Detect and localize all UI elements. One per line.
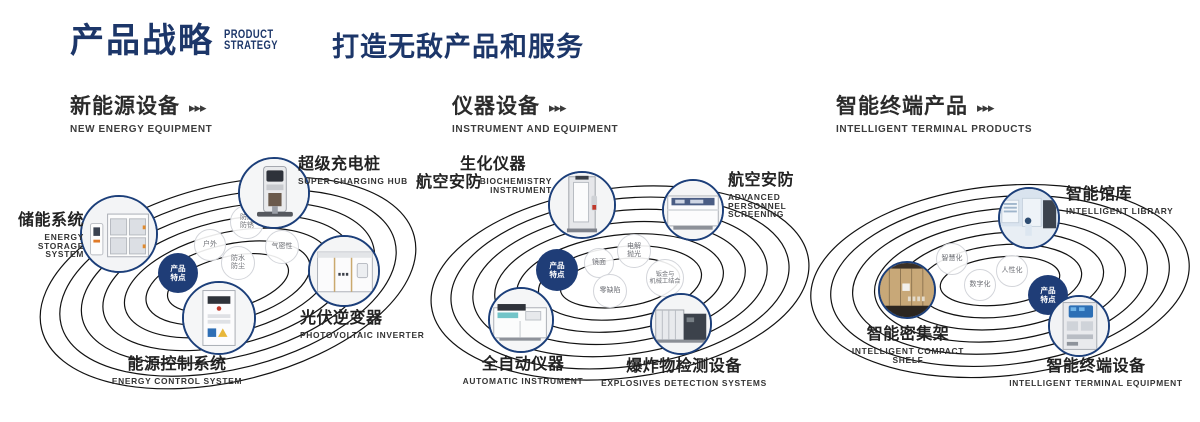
node-advanced-personnel-screening[interactable] [662,179,724,241]
screening-machine-photo [664,181,722,239]
feature-bubble-zero-defect: 零缺陷 [593,274,627,308]
label-energy-control-system: 能源控制系统 ENERGY CONTROL SYSTEM [92,357,262,386]
feature-line1: 户外 [203,241,217,250]
feature-bubble-digitalization: 数字化 [964,269,996,301]
feature-line1: 钣金与 [650,271,681,279]
section-title-instrument-and-equipment: 仪器设备 ▸▸▸ INSTRUMENT AND EQUIPMENT [452,96,618,135]
label-cn: 能源控制系统 [92,357,262,374]
feature-bubble-humanization: 人性化 [996,255,1028,287]
label-en: AUTOMATIC INSTRUMENT [438,377,608,386]
feature-line2: 抛光 [627,251,641,260]
poster-subtitle: 打造无敌产品和服务 [332,34,584,61]
feature-line1: 气密性 [272,243,293,252]
node-automatic-instrument[interactable] [488,287,554,353]
node-energy-storage-system[interactable] [80,195,158,273]
section-title-cn-text: 智能终端产品 [836,96,968,117]
feature-main-line2: 特点 [549,270,564,279]
label-cn: 超级充电桩 [298,157,428,174]
poster-title-en-line2: STRATEGY [224,41,278,52]
feature-bubble-waterproof: 防水 防尘 [221,246,255,280]
feature-line1: 智慧化 [942,255,963,264]
feature-line1: 防水 [231,255,245,264]
feature-line2: 防尘 [231,263,245,272]
section-title-new-energy-equipment: 新能源设备 ▸▸▸ NEW ENERGY EQUIPMENT [70,96,212,135]
auto-analyzer-photo [490,289,552,351]
label-en: BIOCHEMISTRY INSTRUMENT [460,177,552,195]
feature-bubble-sheet-metal: 钣金与 机械工结合 [646,259,684,297]
node-energy-control-system[interactable] [182,281,256,355]
kiosk-terminal-photo [1050,297,1108,355]
feature-bubble-intelligence: 智慧化 [936,243,968,275]
label-biochemistry-instrument: 生化仪器 BIOCHEMISTRY INSTRUMENT [460,157,560,194]
label-en: ENERGY STORAGE SYSTEM [0,233,84,259]
label-en: EXPLOSIVES DETECTION SYSTEMS [596,379,772,388]
inverter-cabinet-photo [310,237,378,305]
feature-line2: 机械工结合 [650,278,681,286]
feature-line1: 电解 [627,243,641,252]
chevron-right-icon: ▸▸▸ [189,101,206,114]
detector-unit-photo [652,295,710,353]
node-intelligent-library[interactable] [998,187,1060,249]
label-intelligent-terminal-equipment: 智能终端设备 INTELLIGENT TERMINAL EQUIPMENT [1006,359,1186,388]
label-energy-storage-system: 储能系统 ENERGY STORAGE SYSTEM [0,213,84,259]
label-explosives-detection-systems: 爆炸物检测设备 EXPLOSIVES DETECTION SYSTEMS [596,359,772,388]
section-title-cn: 仪器设备 ▸▸▸ [452,96,618,117]
battery-cabinet-photo [82,197,156,271]
label-intelligent-compact-shelf: 智能密集架 INTELLIGENT COMPACT SHELF [818,327,998,364]
label-en: ENERGY CONTROL SYSTEM [92,377,262,386]
feature-bubble-airtightness: 气密性 [265,230,299,264]
library-hall-photo [1000,189,1058,247]
cluster-instrument-and-equipment: 产品 特点 镜面 电解 抛光 零缺陷 钣金与 机械工结合 航空安防 [418,155,818,405]
label-intelligent-library: 智能馆库 INTELLIGENT LIBRARY [1066,187,1200,216]
compact-shelf-photo [880,263,934,317]
feature-line1: 镜面 [592,259,606,268]
feature-line1: 零缺陷 [600,287,621,296]
poster-canvas: 产品战略 PRODUCT STRATEGY 打造无敌产品和服务 新能源设备 ▸▸… [0,0,1200,422]
section-title-intelligent-terminal-products: 智能终端产品 ▸▸▸ INTELLIGENT TERMINAL PRODUCTS [836,96,1032,135]
label-cn: 全自动仪器 [438,357,608,374]
cluster-new-energy-equipment: 产品 特点 户外 防腐 防锈 防水 防尘 气密性 [30,155,430,405]
label-cn: 储能系统 [0,213,84,230]
node-intelligent-terminal-equipment[interactable] [1048,295,1110,357]
feature-bubble-main: 产品 特点 [536,249,578,291]
node-explosives-detection-systems[interactable] [650,293,712,355]
section-title-cn: 新能源设备 ▸▸▸ [70,96,212,117]
section-title-en: INSTRUMENT AND EQUIPMENT [452,124,618,135]
label-cn: 生化仪器 [460,157,560,174]
poster-title-en: PRODUCT STRATEGY [224,30,278,52]
cluster-intelligent-terminal-products: 智慧化 数字化 人性化 产品 特点 [800,155,1200,405]
section-title-cn-text: 仪器设备 [452,96,540,117]
label-en: INTELLIGENT LIBRARY [1066,207,1200,216]
label-cn: 智能馆库 [1066,187,1200,204]
label-cn: 爆炸物检测设备 [596,359,772,376]
feature-main-line1: 产品 [1040,286,1055,295]
label-en: INTELLIGENT TERMINAL EQUIPMENT [1006,379,1186,388]
feature-main-line1: 产品 [549,261,564,270]
feature-bubble-electropolishing: 电解 抛光 [617,234,651,268]
section-title-cn-text: 新能源设备 [70,96,180,117]
feature-main-line2: 特点 [170,273,185,282]
label-en: INTELLIGENT COMPACT SHELF [848,347,968,365]
node-intelligent-compact-shelf[interactable] [878,261,936,319]
control-cabinet-photo [184,283,254,353]
poster-title-cn: 产品战略 [70,24,214,58]
feature-main-line1: 产品 [170,264,185,273]
poster-header: 产品战略 PRODUCT STRATEGY [70,24,290,58]
chevron-right-icon: ▸▸▸ [549,101,566,114]
label-cn: 智能终端设备 [1006,359,1186,376]
chevron-right-icon: ▸▸▸ [977,101,994,114]
label-automatic-instrument: 全自动仪器 AUTOMATIC INSTRUMENT [438,357,608,386]
feature-line1: 数字化 [970,281,991,290]
feature-line1: 人性化 [1002,267,1023,276]
label-cn: 智能密集架 [818,327,998,344]
section-title-cn: 智能终端产品 ▸▸▸ [836,96,1032,117]
node-photovoltaic-inverter[interactable] [308,235,380,307]
section-title-en: NEW ENERGY EQUIPMENT [70,124,212,135]
section-title-en: INTELLIGENT TERMINAL PRODUCTS [836,124,1032,135]
